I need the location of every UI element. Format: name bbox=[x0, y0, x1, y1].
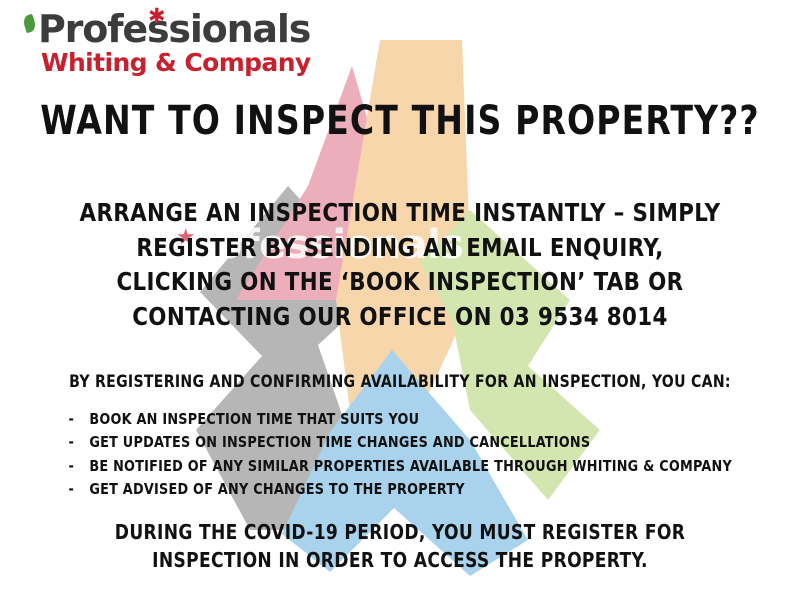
list-item-label: GET ADVISED OF ANY CHANGES TO THE PROPER… bbox=[89, 480, 464, 498]
brand-logo-name: Professionals bbox=[38, 7, 310, 51]
list-item-label: BE NOTIFIED OF ANY SIMILAR PROPERTIES AV… bbox=[89, 457, 732, 475]
list-item-label: BOOK AN INSPECTION TIME THAT SUITS YOU bbox=[89, 410, 419, 428]
page-title: WANT TO INSPECT THIS PROPERTY?? bbox=[32, 98, 768, 144]
bullet-dash-icon: - bbox=[68, 431, 89, 454]
benefits-list: -BOOK AN INSPECTION TIME THAT SUITS YOU … bbox=[0, 408, 800, 501]
star-icon: ✱ bbox=[148, 6, 164, 27]
lead-paragraph: ARRANGE AN INSPECTION TIME INSTANTLY – S… bbox=[20, 196, 780, 334]
brand-logo-primary-row: ✱ Professionals bbox=[24, 10, 311, 48]
leaf-icon bbox=[22, 14, 38, 34]
bullet-dash-icon: - bbox=[68, 408, 89, 431]
benefits-intro-text: BY REGISTERING AND CONFIRMING AVAILABILI… bbox=[20, 372, 780, 391]
brand-logo: ✱ Professionals Whiting & Company bbox=[24, 10, 311, 75]
list-item: -BE NOTIFIED OF ANY SIMILAR PROPERTIES A… bbox=[68, 455, 732, 478]
covid-notice-text: DURING THE COVID-19 PERIOD, YOU MUST REG… bbox=[20, 518, 780, 574]
poster-canvas: P★rofessionals ✱ Professionals Whiting &… bbox=[0, 0, 800, 600]
list-item: -GET ADVISED OF ANY CHANGES TO THE PROPE… bbox=[68, 478, 732, 501]
list-item-label: GET UPDATES ON INSPECTION TIME CHANGES A… bbox=[89, 433, 590, 451]
bullet-dash-icon: - bbox=[68, 478, 89, 501]
poster-content: ✱ Professionals Whiting & Company WANT T… bbox=[0, 0, 800, 600]
bullet-dash-icon: - bbox=[68, 455, 89, 478]
list-item: -BOOK AN INSPECTION TIME THAT SUITS YOU bbox=[68, 408, 732, 431]
list-item: -GET UPDATES ON INSPECTION TIME CHANGES … bbox=[68, 431, 732, 454]
brand-logo-subname: Whiting & Company bbox=[24, 50, 311, 75]
